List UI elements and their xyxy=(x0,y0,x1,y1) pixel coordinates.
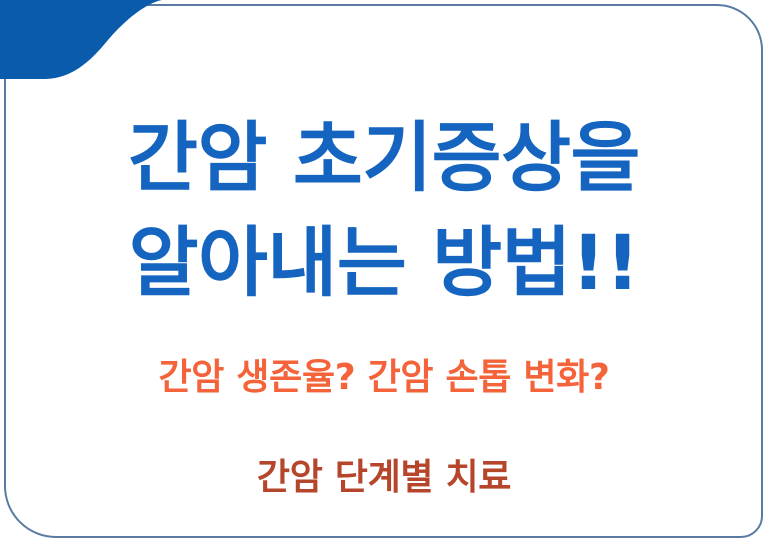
subheading-questions: 간암 생존율? 간암 손톱 변화? xyxy=(0,348,768,400)
headline-line-1: 간암 초기증상을 xyxy=(0,96,768,206)
subheading-treatment: 간암 단계별 치료 xyxy=(0,448,768,500)
text-content: 간암 초기증상을 알아내는 방법!! 간암 생존율? 간암 손톱 변화? 간암 … xyxy=(0,0,768,543)
thumbnail-canvas: 간암 초기증상을 알아내는 방법!! 간암 생존율? 간암 손톱 변화? 간암 … xyxy=(0,0,768,543)
headline-line-2: 알아내는 방법!! xyxy=(0,201,768,311)
